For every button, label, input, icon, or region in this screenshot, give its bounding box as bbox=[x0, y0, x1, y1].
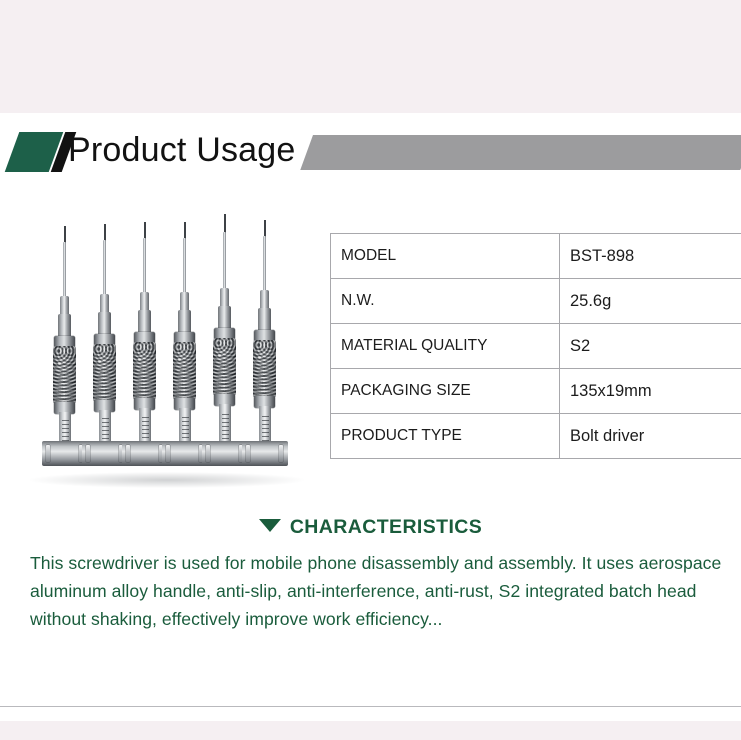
spec-key: N.W. bbox=[331, 279, 560, 324]
table-row: PACKAGING SIZE 135x19mm bbox=[331, 369, 741, 414]
table-row: MODEL BST-898 bbox=[331, 234, 741, 279]
triangle-down-icon bbox=[259, 519, 281, 532]
screwdriver-group bbox=[26, 215, 311, 480]
product-image bbox=[26, 215, 311, 480]
page-title: Product Usage bbox=[68, 124, 296, 176]
top-background-band bbox=[0, 0, 741, 113]
product-usage-page: Product Usage bbox=[0, 0, 741, 740]
section-header: Product Usage bbox=[0, 122, 741, 180]
table-row: N.W. 25.6g bbox=[331, 279, 741, 324]
spec-value: Bolt driver bbox=[560, 414, 741, 459]
specification-table: MODEL BST-898 N.W. 25.6g MATERIAL QUALIT… bbox=[330, 233, 741, 459]
characteristics-body: This screwdriver is used for mobile phon… bbox=[30, 549, 722, 633]
spec-key: MODEL bbox=[331, 234, 560, 279]
footer-divider bbox=[0, 706, 741, 707]
bottom-background-band bbox=[0, 721, 741, 740]
group-shadow bbox=[30, 472, 304, 488]
screwdriver-base bbox=[242, 441, 288, 466]
spec-key: PRODUCT TYPE bbox=[331, 414, 560, 459]
spec-value: BST-898 bbox=[560, 234, 741, 279]
spec-key: PACKAGING SIZE bbox=[331, 369, 560, 414]
gray-banner-shape bbox=[300, 135, 741, 170]
spec-value: 135x19mm bbox=[560, 369, 741, 414]
spec-value: S2 bbox=[560, 324, 741, 369]
characteristics-heading-label: CHARACTERISTICS bbox=[290, 516, 482, 538]
spec-value: 25.6g bbox=[560, 279, 741, 324]
spec-key: MATERIAL QUALITY bbox=[331, 324, 560, 369]
table-row: PRODUCT TYPE Bolt driver bbox=[331, 414, 741, 459]
characteristics-heading: CHARACTERISTICS bbox=[0, 516, 741, 539]
table-row: MATERIAL QUALITY S2 bbox=[331, 324, 741, 369]
